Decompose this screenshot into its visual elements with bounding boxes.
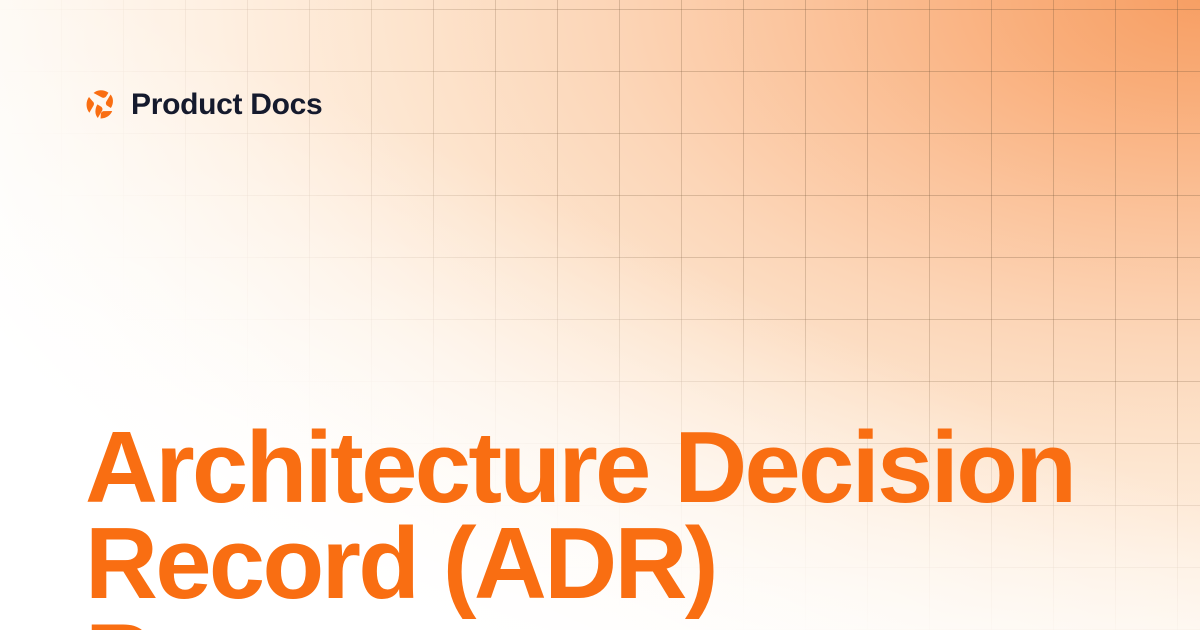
og-banner-card: Product Docs Architecture Decision Recor… (0, 0, 1200, 630)
aperture-shutter-icon (85, 89, 117, 121)
page-title: Architecture Decision Record (ADR) Proce… (85, 420, 1115, 630)
banner-content: Product Docs Architecture Decision Recor… (0, 0, 1200, 630)
brand-lockup: Product Docs (85, 84, 322, 126)
brand-name-label: Product Docs (131, 90, 322, 120)
